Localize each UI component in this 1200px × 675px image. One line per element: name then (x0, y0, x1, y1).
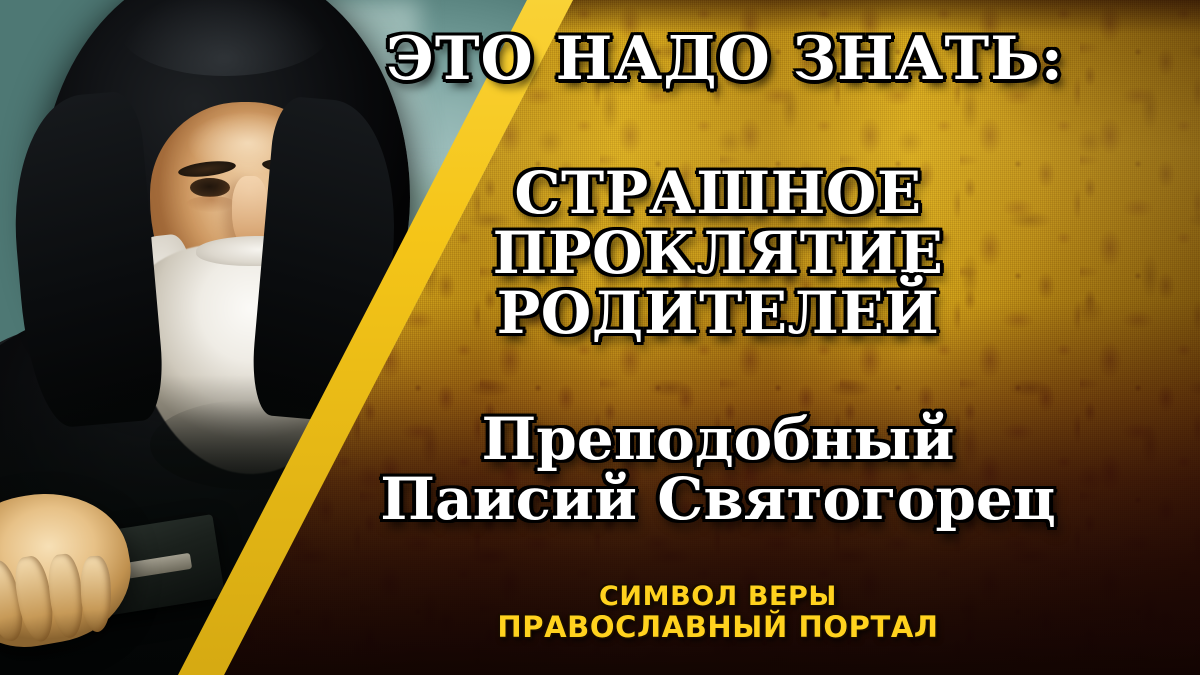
title-line-3: РОДИТЕЛЕЙ (0, 284, 1200, 342)
footer-brand-line-1: СИМВОЛ ВЕРЫ (0, 583, 1200, 612)
footer-brand-line-2: ПРАВОСЛАВНЫЙ ПОРТАЛ (0, 612, 1200, 643)
title-line-1: СТРАШНОЕ (0, 164, 1200, 222)
title-line-2: ПРОКЛЯТИЕ (0, 224, 1200, 282)
video-thumbnail: ЭТО НАДО ЗНАТЬ: СТРАШНОЕ ПРОКЛЯТИЕ РОДИТ… (0, 0, 1200, 675)
header-text: ЭТО НАДО ЗНАТЬ: (0, 24, 1200, 94)
subtitle-line-2: Паисий Святогорец (0, 470, 1200, 528)
subtitle-line-1: Преподобный (0, 410, 1200, 468)
